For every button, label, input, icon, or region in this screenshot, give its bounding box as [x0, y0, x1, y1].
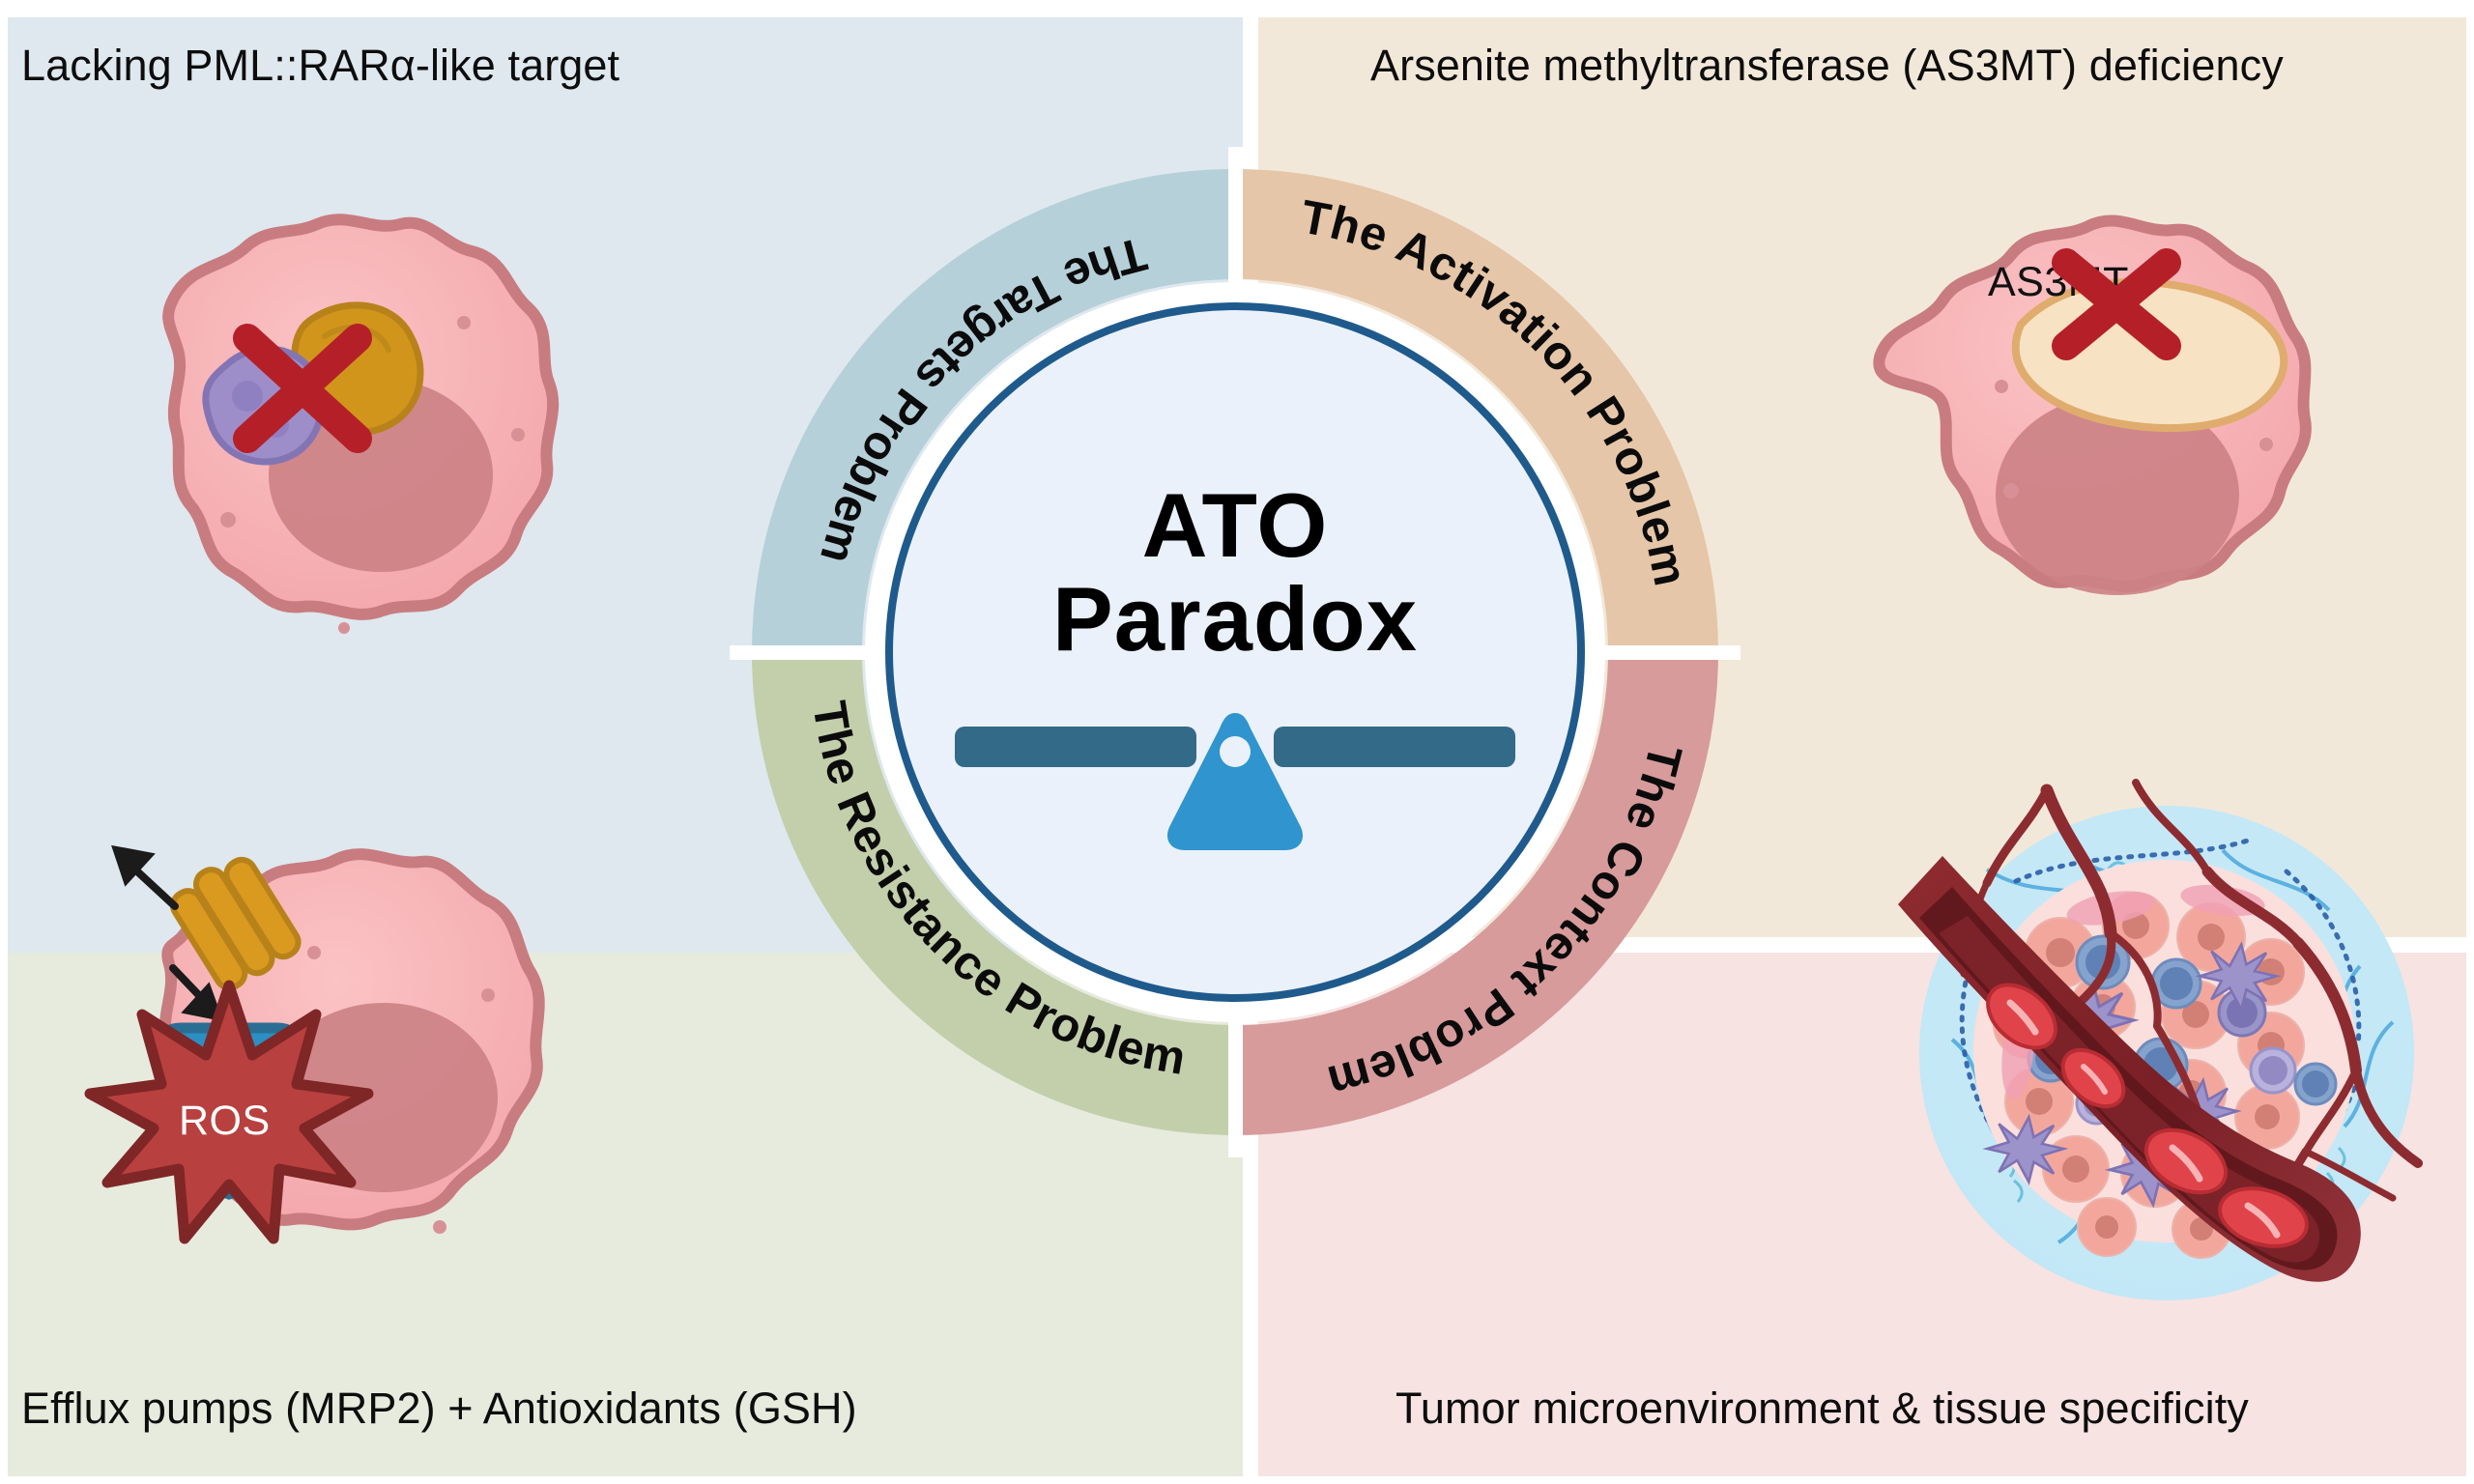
illustration-cancer-cell-activation — [1812, 155, 2392, 696]
caption-top-left: Lacking PML::RARα-like target — [21, 41, 619, 91]
caption-bottom-left: Efflux pumps (MRP2) + Antioxidants (GSH) — [21, 1384, 857, 1434]
ros-label: ROS — [179, 1098, 271, 1145]
illustration-cancer-cell-targets — [85, 176, 626, 698]
illustration-cancer-cell-resistance — [72, 802, 652, 1382]
ato-paradox-ring: The Targets Problem The Activation Probl… — [730, 147, 1740, 1157]
inner-circle — [889, 306, 1581, 998]
caption-top-right: Arsenite methyltransferase (AS3MT) defic… — [1370, 41, 2284, 91]
figure-canvas: Lacking PML::RARα-like target Arsenite m… — [0, 0, 2474, 1484]
x-mark-icon-as3mt — [2039, 242, 2194, 367]
caption-bottom-right: Tumor microenvironment & tissue specific… — [1395, 1384, 2249, 1434]
illustration-tumor-microenvironment — [1817, 763, 2455, 1362]
